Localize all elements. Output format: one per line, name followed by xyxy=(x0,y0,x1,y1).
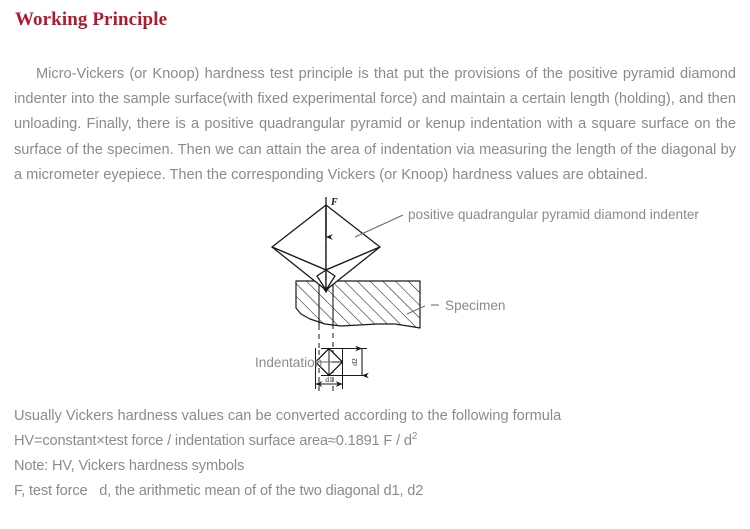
formula-block: Usually Vickers hardness values can be c… xyxy=(14,404,740,504)
force-label: F xyxy=(330,197,338,208)
specimen-block xyxy=(296,281,420,328)
note-line: Note: HV, Vickers hardness symbols xyxy=(14,454,740,479)
d1-label: d1 xyxy=(325,375,333,384)
diagram-svg: F d1 xyxy=(255,192,745,397)
formula-expression: HV=constant×test force / indentation sur… xyxy=(14,433,412,449)
indentation-label: Indentation xyxy=(255,355,322,370)
vickers-principle-diagram: F d1 xyxy=(255,192,745,397)
d2-label: d2 xyxy=(350,358,359,366)
formula-line: HV=constant×test force / indentation sur… xyxy=(14,429,740,454)
formula-intro-line: Usually Vickers hardness values can be c… xyxy=(14,404,740,429)
document-page: Working Principle Micro-Vickers (or Knoo… xyxy=(0,0,750,529)
specimen-label: Specimen xyxy=(445,298,505,313)
legend-line: F, test force d, the arithmetic mean of … xyxy=(14,479,740,504)
indenter-label: positive quadrangular pyramid diamond in… xyxy=(408,207,699,222)
indenter-leader-line xyxy=(355,215,403,237)
intro-paragraph: Micro-Vickers (or Knoop) hardness test p… xyxy=(14,62,736,189)
page-title: Working Principle xyxy=(15,9,167,31)
formula-exponent: 2 xyxy=(412,431,417,442)
